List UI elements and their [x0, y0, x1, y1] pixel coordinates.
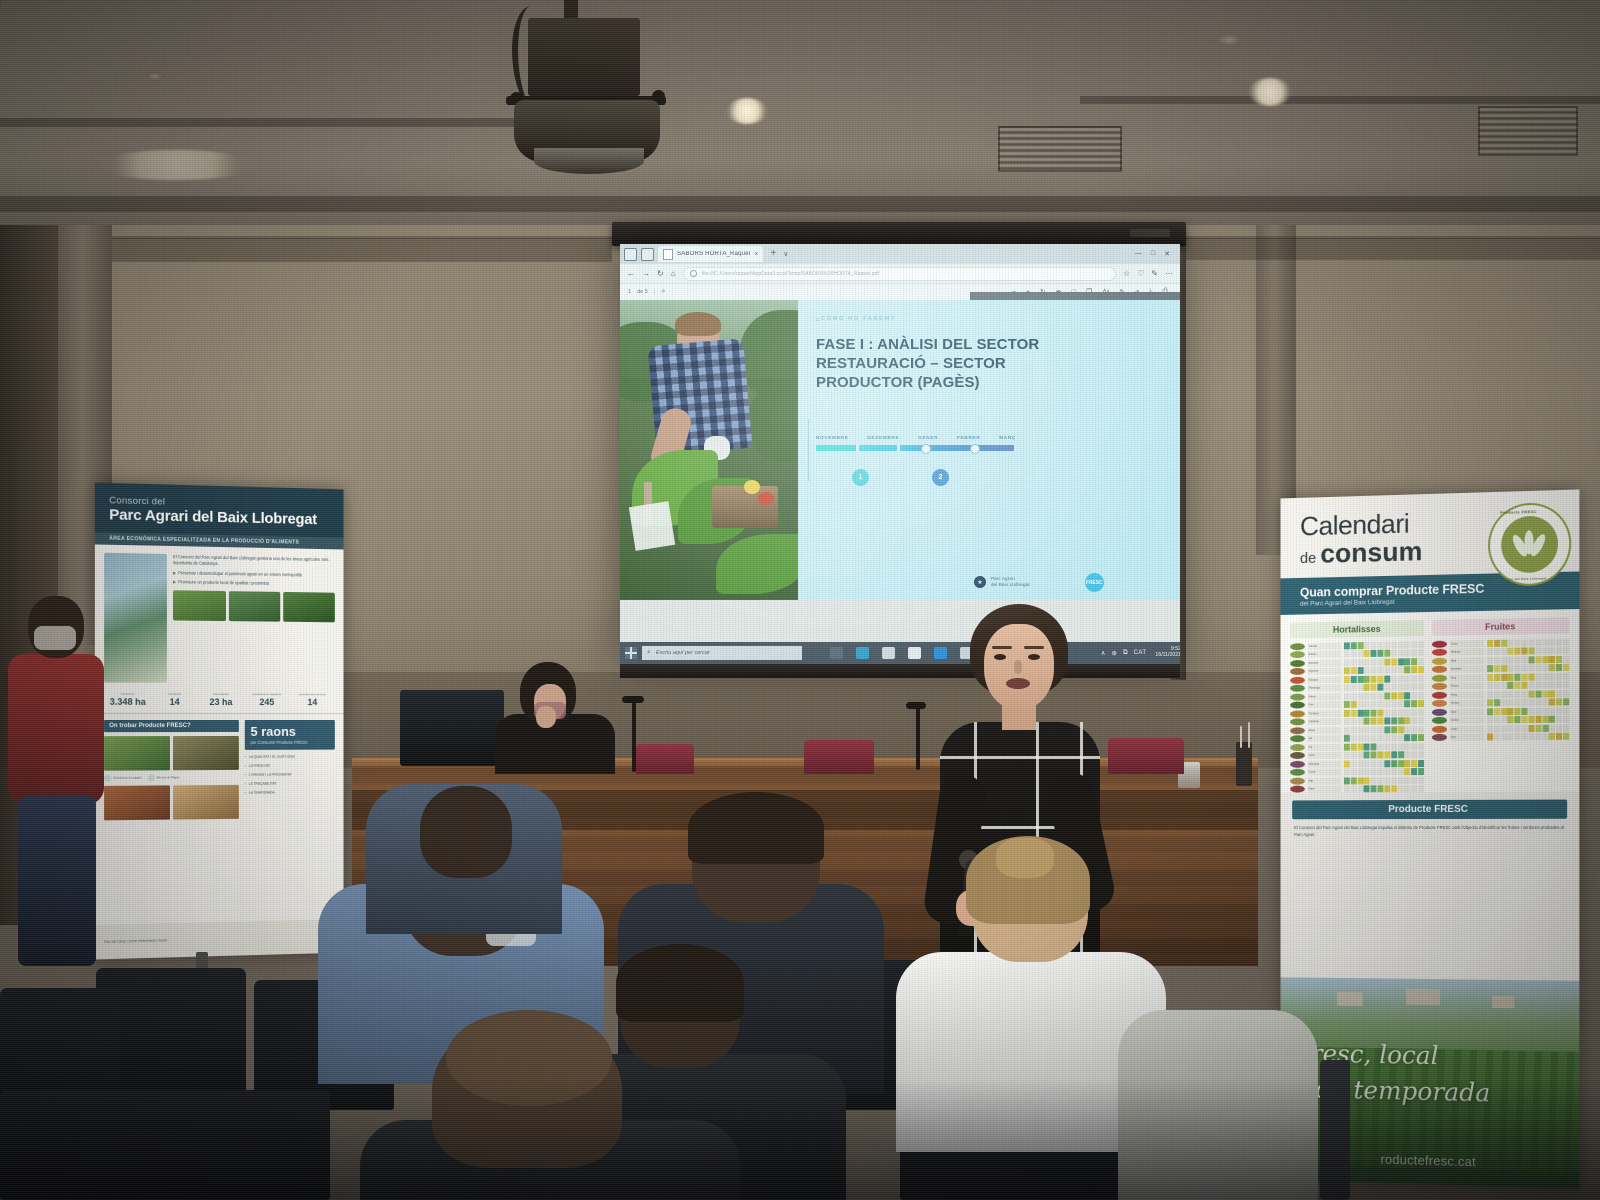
calendar-cell [1404, 752, 1410, 759]
calendar-cell [1377, 667, 1383, 674]
calendar-cell [1391, 743, 1397, 750]
fruit-icons [1432, 641, 1447, 742]
calendar-cell [1494, 717, 1500, 724]
calendar-cell [1404, 760, 1410, 767]
veg-name-10: Carbassó [1308, 718, 1341, 725]
reason-item-4: ▪ LA TRAÇABILITAT [245, 781, 335, 787]
ceiling-vent-center [998, 126, 1122, 172]
calendar-cell [1377, 752, 1383, 759]
calendar-cell [1418, 743, 1424, 750]
calendar-cell [1487, 734, 1493, 741]
forward-icon[interactable]: → [642, 269, 650, 278]
calendar-cell [1371, 659, 1377, 666]
calendar-cell [1344, 676, 1350, 683]
calendar-cell [1357, 693, 1363, 700]
calendar-cell [1391, 675, 1397, 682]
calendar-cell [1556, 682, 1562, 689]
screen-brand-label [1130, 229, 1170, 237]
reason-bullet-2: ▪ [245, 764, 246, 769]
calendar-cell [1418, 717, 1424, 724]
calendar-cell [1371, 760, 1377, 767]
calendar-cell [1398, 769, 1404, 776]
calendar-cell [1521, 682, 1527, 689]
calendar-cell [1487, 708, 1493, 715]
close-icon[interactable]: ✕ [1164, 250, 1170, 258]
calendar-cell [1344, 642, 1350, 649]
veg-name-7: Pebrot [1308, 693, 1341, 700]
fruit-name-5: Pera [1450, 674, 1484, 682]
browser-tab-active[interactable]: SABORS HORTA_Raquel × [658, 246, 763, 262]
calendar-cell [1384, 760, 1390, 767]
calendar-cell [1418, 649, 1424, 656]
calendar-cell [1357, 735, 1363, 742]
calendar-row [1344, 768, 1424, 775]
calendar-cell [1391, 769, 1397, 776]
collections-icon[interactable] [641, 248, 654, 261]
calendar-cell [1357, 769, 1363, 776]
new-tab-icon[interactable]: + [767, 249, 779, 259]
calendar-cell [1521, 648, 1527, 655]
calendar-cell [1556, 707, 1562, 714]
calendar-cell [1391, 718, 1397, 725]
banner-left-find-section: On trobar Producte FRESC? Directament a … [104, 720, 239, 820]
calendar-cell [1563, 725, 1569, 732]
calendar-cell [1357, 684, 1363, 691]
veg-icon-11 [1290, 727, 1305, 734]
back-icon[interactable]: ← [627, 269, 635, 278]
veg-icon-12 [1290, 736, 1305, 743]
calendar-cell [1528, 725, 1534, 732]
audience-6-bald-top [446, 1010, 612, 1106]
calendar-cell [1521, 733, 1527, 740]
microphone-head-left [622, 696, 644, 703]
calendar-cell [1411, 726, 1417, 733]
stat-superficie-label: superfície [104, 691, 151, 695]
calendar-cell [1542, 639, 1548, 646]
veg-icon-6 [1290, 685, 1305, 692]
calendar-cell [1494, 665, 1500, 672]
calendar-cell [1487, 700, 1493, 707]
calendar-cell [1556, 656, 1562, 663]
stat-explotacions-label: explotacions agràries [244, 692, 290, 696]
taskbar-search-input[interactable]: ⌕ Escriu aquí per cercar [642, 646, 802, 660]
calendar-cell [1371, 777, 1377, 784]
reason-text-1: LA QUALITAT I EL GUST ÚNIC [249, 755, 295, 760]
slide-footer-line-2: del Baix Llobregat [991, 582, 1030, 588]
window-controls: — □ ✕ [1135, 250, 1176, 258]
veg-icon-9 [1290, 710, 1305, 717]
calendar-cell [1391, 760, 1397, 767]
calendar-cell [1411, 735, 1417, 742]
calendar-cell [1344, 693, 1350, 700]
fruit-icon-11 [1432, 726, 1447, 733]
calendar-cell [1515, 656, 1521, 663]
home-icon[interactable]: ⌂ [671, 269, 676, 278]
banner-left-text-block: El Consorci del Parc Agrari del Baix Llo… [173, 554, 335, 683]
calendar-cell [1404, 718, 1410, 725]
calendar-cell [1487, 683, 1493, 690]
fruit-icon-8 [1432, 700, 1447, 707]
calendar-cell [1351, 727, 1357, 734]
calendar-cell [1494, 700, 1500, 707]
fruit-icon-4 [1432, 666, 1447, 673]
fruit-icon-1 [1432, 641, 1447, 648]
calendar-cell [1377, 786, 1383, 793]
calendar-cell [1515, 699, 1521, 706]
calendar-cell [1563, 699, 1569, 706]
fruit-name-2: Maduixa [1450, 648, 1484, 656]
maximize-icon[interactable]: □ [1151, 250, 1155, 258]
calendar-cell [1542, 716, 1548, 723]
reason-item-3: ▪ L'ORIGEN I LA PROXIMITAT [245, 772, 335, 777]
calendar-cell [1528, 673, 1534, 680]
calendar-cell [1528, 656, 1534, 663]
banner-right-header: Calendari de consum Producte FRESC Parc … [1280, 489, 1579, 578]
calendar-cell [1508, 665, 1514, 672]
calendar-row [1487, 681, 1569, 689]
timeline-node-1 [921, 444, 931, 454]
timeline-month-novembre: NOVEMBRE [816, 435, 849, 440]
calendar-cell [1398, 667, 1404, 674]
calendar-cell [1411, 768, 1417, 775]
seal-top-text: Producte FRESC [1500, 509, 1537, 515]
farmhouse-3 [1492, 996, 1514, 1008]
calendar-cell [1508, 716, 1514, 723]
calendar-cell [1508, 691, 1514, 698]
calendar-cell [1411, 667, 1417, 674]
calendar-cell [1501, 648, 1507, 655]
stat-hivernacles-label: hivernacles [198, 692, 244, 696]
calendar-cell [1515, 665, 1521, 672]
slide-text-body: ¿CÓMO HO FAREM? FASE I : ANÀLISI DEL SEC… [798, 300, 1180, 600]
timeline-node-2 [970, 444, 980, 454]
calendar-header-fruites: Fruites [1432, 617, 1569, 636]
tab-close-icon[interactable]: × [754, 251, 758, 258]
calendar-cell [1398, 684, 1404, 691]
ceiling-fixture [146, 72, 164, 81]
veg-name-12: Api [1308, 735, 1341, 742]
calendar-cell [1377, 642, 1383, 649]
calendar-cell [1351, 642, 1357, 649]
veg-icon-14 [1290, 752, 1305, 759]
calendar-cell [1344, 718, 1350, 725]
calendar-cell [1364, 642, 1370, 649]
calendar-cell [1398, 777, 1404, 784]
ceiling-beam-2 [0, 118, 520, 127]
vegetable-names: Carxofa Enciam Escarola Espinacs Mongeta… [1308, 642, 1341, 792]
calendar-cell [1391, 650, 1397, 657]
wall-shadow-right [1186, 238, 1600, 260]
veg-icon-5 [1290, 677, 1305, 684]
calendar-cell [1344, 777, 1350, 784]
calendar-cell [1398, 701, 1404, 708]
slide-photo-farmer [620, 300, 798, 600]
calendar-cell [1501, 691, 1507, 698]
banner-right-title-de: de [1300, 550, 1320, 567]
calendar-cell [1418, 666, 1424, 673]
calendar-cell [1398, 692, 1404, 699]
chair-red-3 [636, 744, 694, 774]
photo-bush-3 [748, 384, 798, 462]
calendar-cell [1344, 701, 1350, 708]
calendar-cell [1377, 659, 1383, 666]
favorite-star-icon[interactable]: ☆ [1123, 269, 1130, 278]
start-button-icon[interactable] [625, 647, 637, 659]
calendar-row [1487, 733, 1569, 741]
calendar-cell [1371, 684, 1377, 691]
calendar-cell [1391, 641, 1397, 648]
banner-left-footer: Parc del Camp, Centre d'Informació i Ges… [95, 919, 344, 960]
calendar-cell [1549, 647, 1555, 654]
calendar-cell [1542, 699, 1548, 706]
calendar-cell [1398, 760, 1404, 767]
calendar-cell [1563, 656, 1569, 663]
stat-hivernacles-value: 23 ha [198, 697, 244, 707]
banner-left-title: Parc Agrari del Baix Llobregat [109, 507, 332, 529]
calendar-cell [1371, 752, 1377, 759]
calendar-cell [1494, 682, 1500, 689]
pdf-search-icon[interactable]: ⌕ [661, 288, 665, 296]
calendar-cell [1377, 692, 1383, 699]
calendar-cell [1398, 726, 1404, 733]
calendar-cell [1549, 725, 1555, 732]
fruit-icon-6 [1432, 683, 1447, 690]
audience-chair-6 [0, 1090, 330, 1200]
browser-address-bar: ← → ↻ ⌂ file:///C:/Users/raquel/AppData/… [620, 264, 1180, 284]
audience-2-hair [688, 792, 824, 864]
calendar-cell [1391, 667, 1397, 674]
calendar-cell [1487, 657, 1493, 664]
calendar-column-fruits: Fruites [1432, 617, 1569, 792]
calendar-cell [1404, 658, 1410, 665]
table-monitor [400, 690, 504, 766]
calendar-cell [1418, 785, 1424, 792]
calendar-cell [1556, 664, 1562, 671]
seated-woman-hand [536, 706, 556, 728]
calendar-cell [1371, 743, 1377, 750]
calendar-cell [1357, 727, 1363, 734]
calendar-cell [1377, 760, 1383, 767]
calendar-cell [1556, 690, 1562, 697]
veg-icon-4 [1290, 668, 1305, 675]
calendar-cell [1535, 708, 1541, 715]
calendar-cell [1563, 681, 1569, 688]
taskbar-search-placeholder: Escriu aquí per cercar [656, 650, 710, 656]
calendar-cell [1357, 786, 1363, 793]
calendar-cell [1411, 777, 1417, 784]
calendar-cell [1364, 743, 1370, 750]
calendar-cell [1357, 777, 1363, 784]
calendar-cell [1411, 675, 1417, 682]
reason-bullet-5: ▪ [245, 791, 246, 796]
explorer-icon[interactable] [882, 647, 895, 659]
calendar-cell [1384, 752, 1390, 759]
tab-overview-icon[interactable] [624, 248, 637, 261]
calendar-cell [1508, 674, 1514, 681]
calendar-row [1344, 658, 1424, 666]
calendar-cell [1384, 701, 1390, 708]
calendar-cell [1528, 648, 1534, 655]
calendar-cell [1535, 682, 1541, 689]
calendar-cell [1549, 673, 1555, 680]
language-indicator[interactable]: CAT [1134, 650, 1147, 656]
sweater-grid-h1 [940, 756, 1100, 759]
calendar-cell [1371, 642, 1377, 649]
calendar-cell [1351, 684, 1357, 691]
calendar-cell [1351, 760, 1357, 767]
calendar-cell [1542, 708, 1548, 715]
ceiling-light-1 [726, 98, 768, 124]
calendar-cell [1404, 735, 1410, 742]
calendar-cell [1521, 673, 1527, 680]
tab-title: SABORS HORTA_Raquel [677, 251, 750, 257]
calendar-row [1344, 683, 1424, 691]
stat-explotacions-value: 245 [244, 697, 290, 707]
taskbar-clock[interactable]: 9:52 16/11/2021 [1152, 647, 1180, 659]
calendar-cell [1487, 674, 1493, 681]
calendar-cell [1351, 701, 1357, 708]
presenter-brow-right [1024, 646, 1044, 649]
settings-more-icon[interactable]: ⋯ [1165, 269, 1173, 278]
timeline-gap-2 [897, 445, 900, 451]
banner-parc-agrari: Consorci del Parc Agrari del Baix Llobre… [95, 483, 344, 960]
calendar-cell [1371, 718, 1377, 725]
calendar-cell [1521, 656, 1527, 663]
calendar-cell [1344, 752, 1350, 759]
collections-pen-icon[interactable]: ✎ [1151, 269, 1158, 278]
calendar-cell [1404, 667, 1410, 674]
reason-text-5: LA TEMPORADA [249, 791, 275, 796]
calendar-row [1344, 649, 1424, 657]
minimize-icon[interactable]: — [1135, 250, 1142, 258]
fruit-names: Cirera Maduixa Meló Nectarina Pera Pèsse… [1450, 640, 1484, 741]
calendar-cell [1384, 659, 1390, 666]
fruit-name-9: Raïm [1450, 708, 1484, 715]
calendar-cell [1528, 691, 1534, 698]
find-image-1 [104, 736, 170, 771]
walking-person-jacket [8, 654, 104, 804]
calendar-cell [1364, 667, 1370, 674]
calendar-cell [1542, 682, 1548, 689]
timeline-month-gener: GENER [918, 435, 938, 440]
calendar-cell [1357, 650, 1363, 657]
calendar-cell [1535, 716, 1541, 723]
calendar-cell [1535, 733, 1541, 740]
veg-icon-17 [1290, 778, 1305, 785]
url-input[interactable]: file:///C:/Users/raquel/AppData/Local/Te… [683, 267, 1116, 281]
reasons-subtitle: per Consumir Producte FRESC [250, 740, 329, 746]
pdf-page-current[interactable]: 1 [628, 289, 631, 295]
veg-name-4: Espinacs [1308, 668, 1341, 675]
projection-screen-case [612, 222, 1186, 246]
fruit-month-grid [1487, 638, 1569, 740]
calendar-cell [1542, 656, 1548, 663]
favorites-icon[interactable]: ♡ [1137, 269, 1144, 278]
veg-icon-13 [1290, 744, 1305, 751]
fruit-icon-10 [1432, 717, 1447, 724]
veg-name-14: Ceba [1308, 752, 1341, 759]
calendar-cell [1521, 691, 1527, 698]
walking-person-mask [34, 626, 76, 650]
calendar-cell [1508, 648, 1514, 655]
calendar-cell [1377, 650, 1383, 657]
timeline-marker-2: 2 [932, 469, 949, 486]
calendar-cell [1508, 725, 1514, 732]
calendar-cell [1418, 768, 1424, 775]
calendar-cell [1535, 699, 1541, 706]
calendar-cell [1364, 735, 1370, 742]
find-caption-1-text: Directament a pagès [113, 776, 141, 780]
calendar-cell [1521, 699, 1527, 706]
tab-list-chevron-down-icon[interactable]: ∨ [783, 250, 788, 258]
calendar-cell [1418, 700, 1424, 707]
calendar-row [1344, 641, 1424, 649]
calendar-cell [1494, 648, 1500, 655]
calendar-cell [1351, 693, 1357, 700]
conference-room-photo: SABORS HORTA_Raquel × + ∨ — □ ✕ ← → ↻ ⌂ [0, 0, 1600, 1200]
calendar-cell [1391, 786, 1397, 793]
calendar-cell [1418, 726, 1424, 733]
calendar-cell [1398, 743, 1404, 750]
timeline-month-desembre: DESEMBRE [867, 435, 899, 440]
calendar-cell [1563, 647, 1569, 654]
calendar-cell [1404, 675, 1410, 682]
calendar-cell [1351, 676, 1357, 683]
bullet-marker-2: ▶ [173, 579, 176, 585]
calendar-cell [1528, 699, 1534, 706]
calendar-cell [1371, 693, 1377, 700]
find-image-2 [173, 736, 238, 770]
calendar-cell [1508, 657, 1514, 664]
timeline-progress-bar [816, 445, 1016, 451]
refresh-icon[interactable]: ↻ [657, 269, 664, 278]
calendar-cell [1418, 683, 1424, 690]
calendar-cell [1404, 709, 1410, 716]
calendar-cell [1371, 786, 1377, 793]
calendar-cell [1344, 710, 1350, 717]
calendar-cell [1411, 751, 1417, 758]
calendar-cell [1391, 777, 1397, 784]
find-caption-2-icon [147, 774, 154, 781]
fruit-name-4: Nectarina [1450, 666, 1484, 674]
calendar-row [1344, 675, 1424, 683]
reason-bullet-1: ▪ [245, 755, 246, 760]
calendar-cell [1494, 691, 1500, 698]
calendar-cell [1364, 693, 1370, 700]
calendar-cell [1351, 718, 1357, 725]
calendar-cell [1418, 692, 1424, 699]
leaf-icon [1513, 529, 1545, 560]
reason-text-2: LA FRESCOR [249, 764, 270, 769]
calendar-cell [1528, 708, 1534, 715]
veg-name-3: Escarola [1308, 659, 1341, 666]
calendar-cell [1404, 726, 1410, 733]
reasons-title: 5 raons [250, 725, 329, 738]
calendar-cell [1391, 684, 1397, 691]
volume-icon[interactable]: ⧉ [1123, 649, 1128, 657]
teams-icon[interactable] [830, 647, 843, 659]
slide-eyebrow: ¿CÓMO HO FAREM? [816, 316, 1166, 322]
edge-icon[interactable] [856, 647, 869, 659]
calendar-cell [1404, 785, 1410, 792]
calendar-cell [1351, 651, 1357, 658]
calendar-cell [1549, 656, 1555, 663]
calendar-cell [1364, 659, 1370, 666]
calendar-cell [1344, 668, 1350, 675]
calendar-cell [1398, 752, 1404, 759]
calendar-cell [1364, 676, 1370, 683]
presenter-eye-right [1028, 654, 1040, 660]
